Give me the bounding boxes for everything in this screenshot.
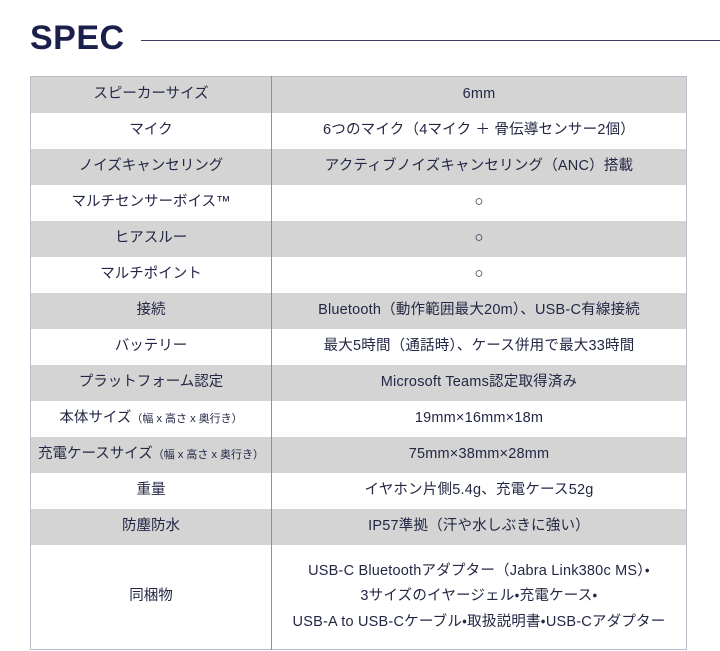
spec-label-text: スピーカーサイズ [93, 86, 208, 102]
spec-label-cell: マルチポイント [31, 257, 272, 293]
spec-label-cell: スピーカーサイズ [31, 77, 272, 114]
spec-label-text: 防塵防水 [122, 518, 180, 534]
spec-value-text: Bluetooth（動作範囲最大20m）、USB-C有線接続 [318, 302, 640, 318]
table-row: プラットフォーム認定Microsoft Teams認定取得済み [31, 365, 687, 401]
spec-label-text: マイク [129, 122, 172, 138]
circle-check-icon: ○ [474, 265, 483, 282]
spec-value-cell: 最大5時間（通話時）、ケース併用で最大33時間 [272, 329, 687, 365]
bundled-item-line: USB-A to USB-Cケーブル・取扱説明書・USB-Cアダプター [280, 613, 678, 633]
spec-page: SPEC スピーカーサイズ6mmマイク6つのマイク（4マイク ＋ 骨伝導センサー… [0, 0, 720, 651]
spec-value-cell: IP57準拠（汗や水しぶきに強い） [272, 509, 687, 545]
header-divider-rule [141, 40, 720, 41]
table-row: 同梱物USB-C Bluetoothアダプター（Jabra Link380c M… [31, 545, 687, 650]
spec-label-cell: プラットフォーム認定 [31, 365, 272, 401]
spec-value-cell: イヤホン片側5.4g、充電ケース52g [272, 473, 687, 509]
table-row: ヒアスルー○ [31, 221, 687, 257]
spec-label-cell: ヒアスルー [31, 221, 272, 257]
spec-value-cell: ○ [272, 185, 687, 221]
spec-value-text: 75mm×38mm×28mm [409, 446, 550, 462]
spec-value-text: アクティブノイズキャンセリング（ANC）搭載 [325, 158, 633, 174]
spec-label-text: ノイズキャンセリング [79, 158, 224, 174]
spec-label-text: ヒアスルー [115, 230, 188, 246]
spec-label-cell: 充電ケースサイズ（幅 x 高さ x 奥行き） [31, 437, 272, 473]
spec-value-text: IP57準拠（汗や水しぶきに強い） [368, 518, 590, 534]
bundled-item-line: 3サイズのイヤージェル・充電ケース・ [280, 587, 678, 607]
spec-header: SPEC [30, 14, 720, 62]
spec-value-cell: ○ [272, 257, 687, 293]
spec-label-cell: 同梱物 [31, 545, 272, 650]
spec-value-cell: Bluetooth（動作範囲最大20m）、USB-C有線接続 [272, 293, 687, 329]
spec-value-text: 最大5時間（通話時）、ケース併用で最大33時間 [324, 338, 635, 354]
table-row: 本体サイズ（幅 x 高さ x 奥行き）19mm×16mm×18m [31, 401, 687, 437]
spec-label-cell: 接続 [31, 293, 272, 329]
spec-table-container: スピーカーサイズ6mmマイク6つのマイク（4マイク ＋ 骨伝導センサー2個）ノイ… [30, 76, 686, 650]
bundled-items-list: USB-C Bluetoothアダプター（Jabra Link380c MS）・… [272, 556, 686, 639]
spec-label-text: 接続 [137, 302, 166, 318]
circle-check-icon: ○ [474, 229, 483, 246]
spec-value-text: 19mm×16mm×18m [415, 410, 543, 426]
spec-label-cell: 防塵防水 [31, 509, 272, 545]
spec-table: スピーカーサイズ6mmマイク6つのマイク（4マイク ＋ 骨伝導センサー2個）ノイ… [30, 76, 687, 650]
spec-value-text: Microsoft Teams認定取得済み [381, 374, 578, 390]
spec-label-text: 重量 [137, 482, 166, 498]
table-row: マルチセンサーボイス™○ [31, 185, 687, 221]
bundled-item-line: USB-C Bluetoothアダプター（Jabra Link380c MS）・ [280, 562, 678, 582]
spec-label-text: プラットフォーム認定 [79, 374, 224, 390]
spec-label-subtext: （幅 x 高さ x 奥行き） [131, 413, 242, 425]
spec-label-cell: 重量 [31, 473, 272, 509]
table-row: 防塵防水IP57準拠（汗や水しぶきに強い） [31, 509, 687, 545]
spec-value-text: イヤホン片側5.4g、充電ケース52g [364, 482, 593, 498]
spec-label-cell: バッテリー [31, 329, 272, 365]
table-row: スピーカーサイズ6mm [31, 77, 687, 114]
spec-table-body: スピーカーサイズ6mmマイク6つのマイク（4マイク ＋ 骨伝導センサー2個）ノイ… [31, 77, 687, 650]
spec-label-text: マルチポイント [100, 266, 202, 282]
spec-value-cell: アクティブノイズキャンセリング（ANC）搭載 [272, 149, 687, 185]
spec-label-cell: マルチセンサーボイス™ [31, 185, 272, 221]
spec-label-cell: 本体サイズ（幅 x 高さ x 奥行き） [31, 401, 272, 437]
spec-label-subtext: （幅 x 高さ x 奥行き） [153, 449, 264, 461]
spec-value-cell: 6mm [272, 77, 687, 114]
table-row: 充電ケースサイズ（幅 x 高さ x 奥行き）75mm×38mm×28mm [31, 437, 687, 473]
table-row: 接続Bluetooth（動作範囲最大20m）、USB-C有線接続 [31, 293, 687, 329]
spec-value-text: 6mm [463, 86, 496, 102]
table-row: マルチポイント○ [31, 257, 687, 293]
spec-label-text: 同梱物 [129, 588, 173, 604]
spec-label-cell: ノイズキャンセリング [31, 149, 272, 185]
spec-label-text: 本体サイズ [59, 410, 131, 426]
spec-value-cell: 19mm×16mm×18m [272, 401, 687, 437]
spec-value-cell: ○ [272, 221, 687, 257]
table-row: マイク6つのマイク（4マイク ＋ 骨伝導センサー2個） [31, 113, 687, 149]
spec-value-cell: USB-C Bluetoothアダプター（Jabra Link380c MS）・… [272, 545, 687, 650]
spec-label-text: バッテリー [115, 338, 188, 354]
spec-value-cell: 6つのマイク（4マイク ＋ 骨伝導センサー2個） [272, 113, 687, 149]
table-row: バッテリー最大5時間（通話時）、ケース併用で最大33時間 [31, 329, 687, 365]
spec-value-cell: 75mm×38mm×28mm [272, 437, 687, 473]
spec-value-cell: Microsoft Teams認定取得済み [272, 365, 687, 401]
spec-value-text: 6つのマイク（4マイク ＋ 骨伝導センサー2個） [323, 122, 635, 138]
spec-label-text: 充電ケースサイズ [38, 446, 153, 462]
table-row: ノイズキャンセリングアクティブノイズキャンセリング（ANC）搭載 [31, 149, 687, 185]
spec-label-cell: マイク [31, 113, 272, 149]
table-row: 重量イヤホン片側5.4g、充電ケース52g [31, 473, 687, 509]
page-title: SPEC [30, 21, 125, 55]
circle-check-icon: ○ [474, 193, 483, 210]
spec-label-text: マルチセンサーボイス™ [71, 194, 230, 210]
